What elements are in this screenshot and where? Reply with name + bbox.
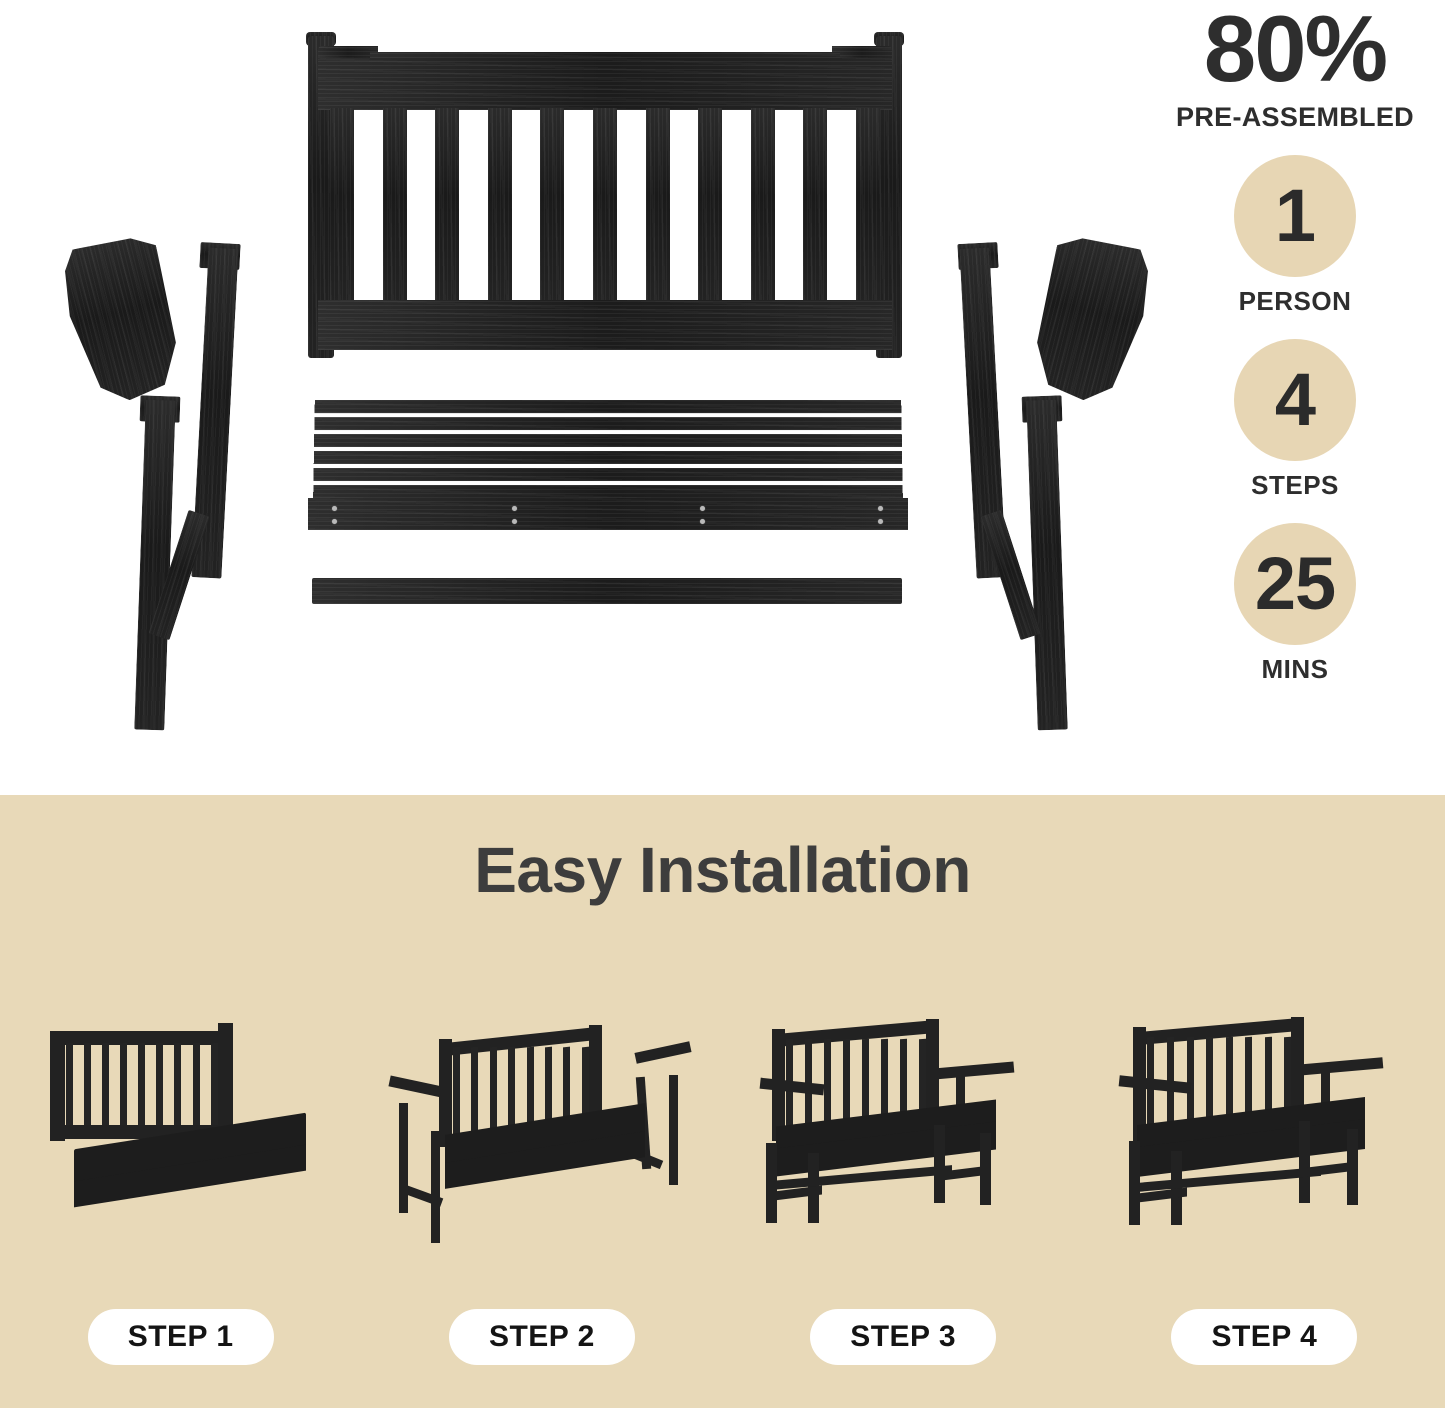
pre-assembled-percent: 80% [1176, 4, 1414, 94]
mini-slat [824, 1039, 831, 1132]
mini-slat [174, 1043, 181, 1127]
screw-hole [878, 519, 883, 524]
stat-badge-person: 1 PERSON [1234, 155, 1356, 317]
back-slat [540, 108, 564, 302]
pre-assembled-block: 80% PRE-ASSEMBLED [1176, 4, 1414, 133]
stat-number-person: 1 [1275, 179, 1315, 253]
back-slat [856, 108, 880, 302]
back-slat [803, 108, 827, 302]
step-1-illustration [26, 1003, 336, 1303]
mini-leg-d [669, 1075, 678, 1185]
back-slat [383, 108, 407, 302]
stat-caption-steps: STEPS [1234, 470, 1356, 501]
step-item-3: STEP 3 [723, 945, 1084, 1365]
step-label-2: STEP 2 [449, 1309, 635, 1365]
screw-hole [512, 519, 517, 524]
back-slat [646, 108, 670, 302]
mini-back-stile-right [218, 1023, 233, 1133]
exploded-parts-diagram [0, 0, 1150, 795]
easy-installation-section: Easy Installation [0, 795, 1445, 1408]
mini-slat [508, 1047, 515, 1136]
step-2-illustration [387, 1003, 697, 1303]
seat-slat [314, 434, 902, 447]
mini-back-slats [66, 1043, 218, 1127]
easy-installation-heading: Easy Installation [0, 795, 1445, 907]
product-parts-section: 80% PRE-ASSEMBLED 1 PERSON 4 STEPS 25 MI… [0, 0, 1445, 795]
screw-hole [332, 519, 337, 524]
step-label-3: STEP 3 [810, 1309, 996, 1365]
part-back-panel [300, 28, 910, 358]
part-stretcher-rail [312, 578, 902, 604]
stat-number-mins: 25 [1255, 547, 1335, 621]
armrest-left-body [50, 230, 191, 411]
mini-back-stile-left [439, 1039, 452, 1147]
back-slat [593, 108, 617, 302]
back-slat [330, 108, 354, 302]
seat-front-apron [308, 498, 908, 530]
stat-badge-steps: 4 STEPS [1234, 339, 1356, 501]
mini-slat [120, 1043, 127, 1127]
mini-slat [193, 1043, 200, 1127]
installation-steps-row: STEP 1 [0, 945, 1445, 1365]
step-item-4: STEP 4 [1084, 945, 1445, 1365]
part-seat-assembly [308, 400, 908, 530]
screw-hole [700, 519, 705, 524]
mini-armrest-right-loose [634, 1041, 691, 1063]
mini-leg-a [399, 1103, 408, 1213]
pre-assembled-label: PRE-ASSEMBLED [1176, 102, 1414, 133]
part-armrest-right [1022, 230, 1163, 411]
step-item-1: STEP 1 [0, 945, 361, 1365]
mini-slat [211, 1043, 218, 1127]
stat-number-steps: 4 [1275, 363, 1315, 437]
step-label-1: STEP 1 [88, 1309, 274, 1365]
part-armrest-left [50, 230, 191, 411]
stat-circle-steps: 4 [1234, 339, 1356, 461]
stat-circle-mins: 25 [1234, 523, 1356, 645]
back-slat [751, 108, 775, 302]
back-panel-top-rail [318, 58, 892, 110]
armrest-right-body [1022, 230, 1163, 411]
mini-slat [453, 1047, 460, 1136]
seat-slat [314, 451, 903, 464]
stat-badge-mins: 25 MINS [1234, 523, 1356, 685]
back-slat [698, 108, 722, 302]
mini-leg-b [431, 1131, 440, 1243]
step-4-illustration [1109, 1003, 1419, 1303]
screw-hole [512, 506, 517, 511]
seat-slat [313, 485, 903, 498]
mini-armrest-right [1297, 1057, 1384, 1075]
seat-slat [315, 400, 902, 413]
mini-slat [156, 1043, 163, 1127]
stat-caption-person: PERSON [1234, 286, 1356, 317]
mini-armrest-left-loose [388, 1076, 443, 1098]
seat-slat-group [313, 400, 903, 498]
mini-slat [490, 1047, 497, 1136]
assembly-stats-rail: 80% PRE-ASSEMBLED 1 PERSON 4 STEPS 25 MI… [1145, 0, 1445, 795]
part-leg-right-front [1026, 400, 1067, 731]
step-item-2: STEP 2 [361, 945, 722, 1365]
back-slat [435, 108, 459, 302]
mini-slat [471, 1047, 478, 1136]
mini-slat [138, 1043, 145, 1127]
stat-caption-mins: MINS [1234, 654, 1356, 685]
seat-slat [314, 417, 901, 430]
screw-hole [700, 506, 705, 511]
mini-slat [84, 1043, 91, 1127]
stat-circle-person: 1 [1234, 155, 1356, 277]
back-slat [488, 108, 512, 302]
mini-armrest-right [934, 1062, 1015, 1080]
mini-leg-front-right [934, 1125, 945, 1203]
mini-slat [66, 1043, 73, 1127]
screw-hole [332, 506, 337, 511]
back-panel-slat-group [330, 108, 880, 302]
screw-hole [878, 506, 883, 511]
back-panel-bottom-rail [318, 300, 892, 350]
step-3-illustration [748, 1003, 1058, 1303]
seat-slat [313, 468, 902, 481]
mini-leg-front-right [1299, 1121, 1310, 1203]
step-label-4: STEP 4 [1171, 1309, 1357, 1365]
mini-slat [102, 1043, 109, 1127]
